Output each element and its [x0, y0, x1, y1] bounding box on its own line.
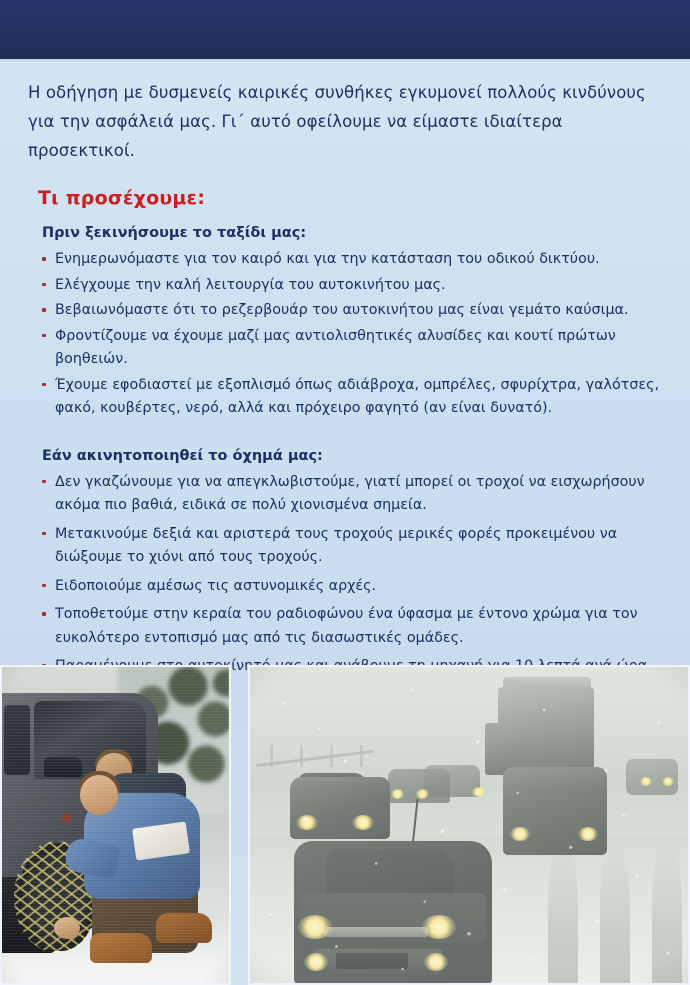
- photo-strip: [0, 665, 690, 985]
- list-item: Μετακινούμε δεξιά και αριστερά τους τροχ…: [42, 523, 664, 570]
- list-item: Ειδοποιούμε αμέσως τις αστυνομικές αρχές…: [42, 575, 664, 599]
- group2-subtitle: Εάν ακινητοποιηθεί το όχημά μας:: [42, 448, 690, 464]
- list-item: Βεβαιωνόμαστε ότι το ρεζερβουάρ του αυτο…: [42, 299, 664, 323]
- header-band: [0, 0, 690, 59]
- list-item: Ελέγχουμε την καλή λειτουργία του αυτοκι…: [42, 274, 664, 298]
- intro-line-1: Η οδήγηση με δυσμενείς καιρικές συνθήκες…: [28, 78, 664, 107]
- snow-chains-illustration: [0, 665, 231, 985]
- photo-grain: [0, 665, 231, 985]
- intro-paragraph: Η οδήγηση με δυσμενείς καιρικές συνθήκες…: [28, 78, 664, 165]
- list-item: Ενημερωνόμαστε για τον καιρό και για την…: [42, 248, 664, 272]
- snow-chains-photo: [0, 665, 231, 985]
- list-item: Φροντίζουμε να έχουμε μαζί μας αντιολισθ…: [42, 325, 664, 372]
- content-area: Η οδήγηση με δυσμενείς καιρικές συνθήκες…: [0, 62, 690, 684]
- group2-list: Δεν γκαζώνουμε για να απεγκλωβιστούμε, γ…: [0, 471, 690, 679]
- poster-page: Η οδήγηση με δυσμενείς καιρικές συνθήκες…: [0, 0, 690, 985]
- snowstorm-traffic-photo: [248, 665, 690, 985]
- intro-line-2: για την ασφάλειά μας. Γι΄ αυτό οφείλουμε…: [28, 107, 664, 165]
- list-item: Έχουμε εφοδιαστεί με εξοπλισμό όπως αδιά…: [42, 374, 664, 421]
- list-item: Δεν γκαζώνουμε για να απεγκλωβιστούμε, γ…: [42, 471, 664, 518]
- falling-snow: [248, 665, 690, 985]
- snowstorm-illustration: [248, 665, 690, 985]
- group1-subtitle: Πριν ξεκινήσουμε το ταξίδι μας:: [42, 225, 690, 241]
- group1-list: Ενημερωνόμαστε για τον καιρό και για την…: [0, 248, 690, 421]
- list-item: Τοποθετούμε στην κεραία του ραδιοφώνου έ…: [42, 603, 664, 650]
- section-title: Τι προσέχουμε:: [38, 187, 690, 209]
